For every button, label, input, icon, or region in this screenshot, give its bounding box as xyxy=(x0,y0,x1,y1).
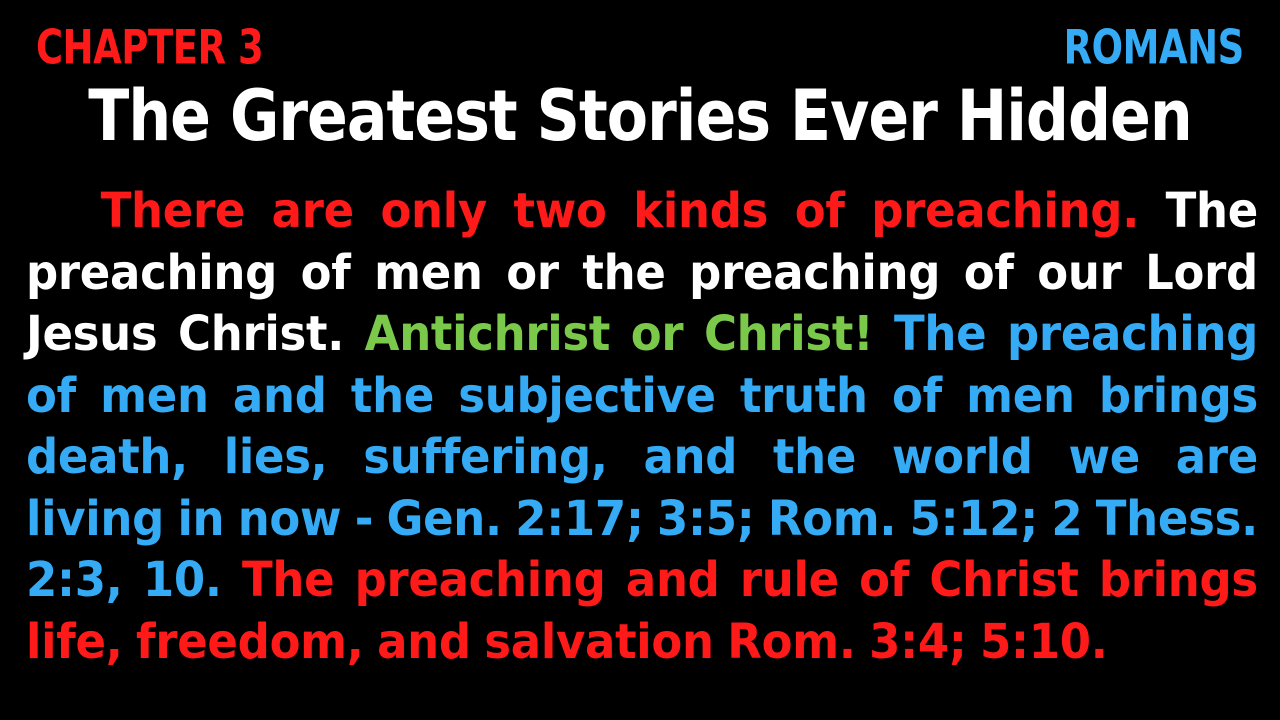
body-word: Rom. xyxy=(727,609,855,674)
body-line: Thereareonlytwokindsofpreaching.The xyxy=(26,178,1258,243)
body-word: of xyxy=(892,363,942,428)
body-word: lies, xyxy=(224,424,328,489)
body-word: The xyxy=(242,547,334,612)
body-line: death,lies,suffering,andtheworldweare xyxy=(26,424,1258,489)
body-word: 5:10. xyxy=(980,609,1108,674)
body-word: Christ xyxy=(929,547,1078,612)
body-word: subjective xyxy=(458,363,715,428)
body-word: of xyxy=(859,547,909,612)
body-word: 2 xyxy=(1051,486,1082,551)
body-word: preaching xyxy=(689,240,940,305)
body-word: 3:4; xyxy=(869,609,966,674)
body-word: of xyxy=(301,240,351,305)
body-word: men xyxy=(100,363,209,428)
body-word: and xyxy=(233,363,327,428)
body-line: 2:3,10.ThepreachingandruleofChristbrings xyxy=(26,547,1258,612)
body-word: preaching xyxy=(26,240,277,305)
body-word: 10. xyxy=(143,547,222,612)
body-word: or xyxy=(631,301,684,366)
body-word: Antichrist xyxy=(365,301,610,366)
body-text-block: Thereareonlytwokindsofpreaching.Thepreac… xyxy=(26,178,1258,670)
body-word: and xyxy=(377,609,471,674)
slide-canvas: CHAPTER 3 ROMANS The Greatest Stories Ev… xyxy=(0,0,1280,720)
body-word: suffering, xyxy=(363,424,607,489)
body-word: we xyxy=(1068,424,1140,489)
body-word: preaching xyxy=(1007,301,1258,366)
body-word: men xyxy=(374,240,483,305)
body-line: preachingofmenorthepreachingofourLord xyxy=(26,240,1258,305)
body-word: freedom, xyxy=(136,609,364,674)
page-title: The Greatest Stories Ever Hidden xyxy=(19,74,1261,158)
body-word: rule xyxy=(740,547,839,612)
body-line: life,freedom,andsalvationRom.3:4;5:10. xyxy=(26,609,1258,674)
body-word: of xyxy=(26,363,76,428)
body-word: only xyxy=(380,178,487,243)
body-word: of xyxy=(795,178,845,243)
book-label: ROMANS xyxy=(1064,23,1244,72)
body-word: brings xyxy=(1099,547,1258,612)
body-word: are xyxy=(272,178,354,243)
body-word: men xyxy=(966,363,1075,428)
body-word: brings xyxy=(1099,363,1258,428)
body-word: Christ! xyxy=(704,301,873,366)
body-word: living xyxy=(26,486,164,551)
body-word: truth xyxy=(740,363,868,428)
body-word: in xyxy=(177,486,224,551)
body-word: 3:5; xyxy=(657,486,754,551)
body-word: the xyxy=(582,240,665,305)
body-line: ofmenandthesubjectivetruthofmenbrings xyxy=(26,363,1258,428)
body-word: The xyxy=(1166,178,1258,243)
body-line: JesusChrist.AntichristorChrist!Thepreach… xyxy=(26,301,1258,366)
body-word: The xyxy=(894,301,986,366)
body-word: 2:3, xyxy=(26,547,123,612)
body-word: 5:12; xyxy=(910,486,1038,551)
body-word: kinds xyxy=(633,178,768,243)
body-word: Lord xyxy=(1145,240,1258,305)
body-word: two xyxy=(514,178,607,243)
body-word: Christ. xyxy=(178,301,344,366)
body-word: world xyxy=(892,424,1033,489)
body-word: the xyxy=(773,424,856,489)
body-word: death, xyxy=(26,424,188,489)
body-word: preaching xyxy=(355,547,606,612)
body-word: Thess. xyxy=(1096,486,1258,551)
body-word: of xyxy=(964,240,1014,305)
body-word: There xyxy=(101,178,245,243)
body-word: preaching. xyxy=(871,178,1139,243)
body-word: and xyxy=(643,424,737,489)
body-word: Rom. xyxy=(768,486,896,551)
header-row: CHAPTER 3 ROMANS xyxy=(0,22,1280,74)
body-word: our xyxy=(1037,240,1121,305)
body-word: are xyxy=(1176,424,1258,489)
chapter-label: CHAPTER 3 xyxy=(36,23,263,72)
body-word: and xyxy=(626,547,720,612)
body-word: salvation xyxy=(484,609,713,674)
body-line: livinginnow-Gen.2:17;3:5;Rom.5:12;2Thess… xyxy=(26,486,1258,551)
body-word: life, xyxy=(26,609,123,674)
body-word: Jesus xyxy=(26,301,157,366)
body-word: 2:17; xyxy=(515,486,643,551)
body-word: or xyxy=(506,240,559,305)
body-word: now xyxy=(238,486,342,551)
body-word: - xyxy=(355,486,373,551)
body-word: the xyxy=(351,363,434,428)
body-word: Gen. xyxy=(386,486,501,551)
